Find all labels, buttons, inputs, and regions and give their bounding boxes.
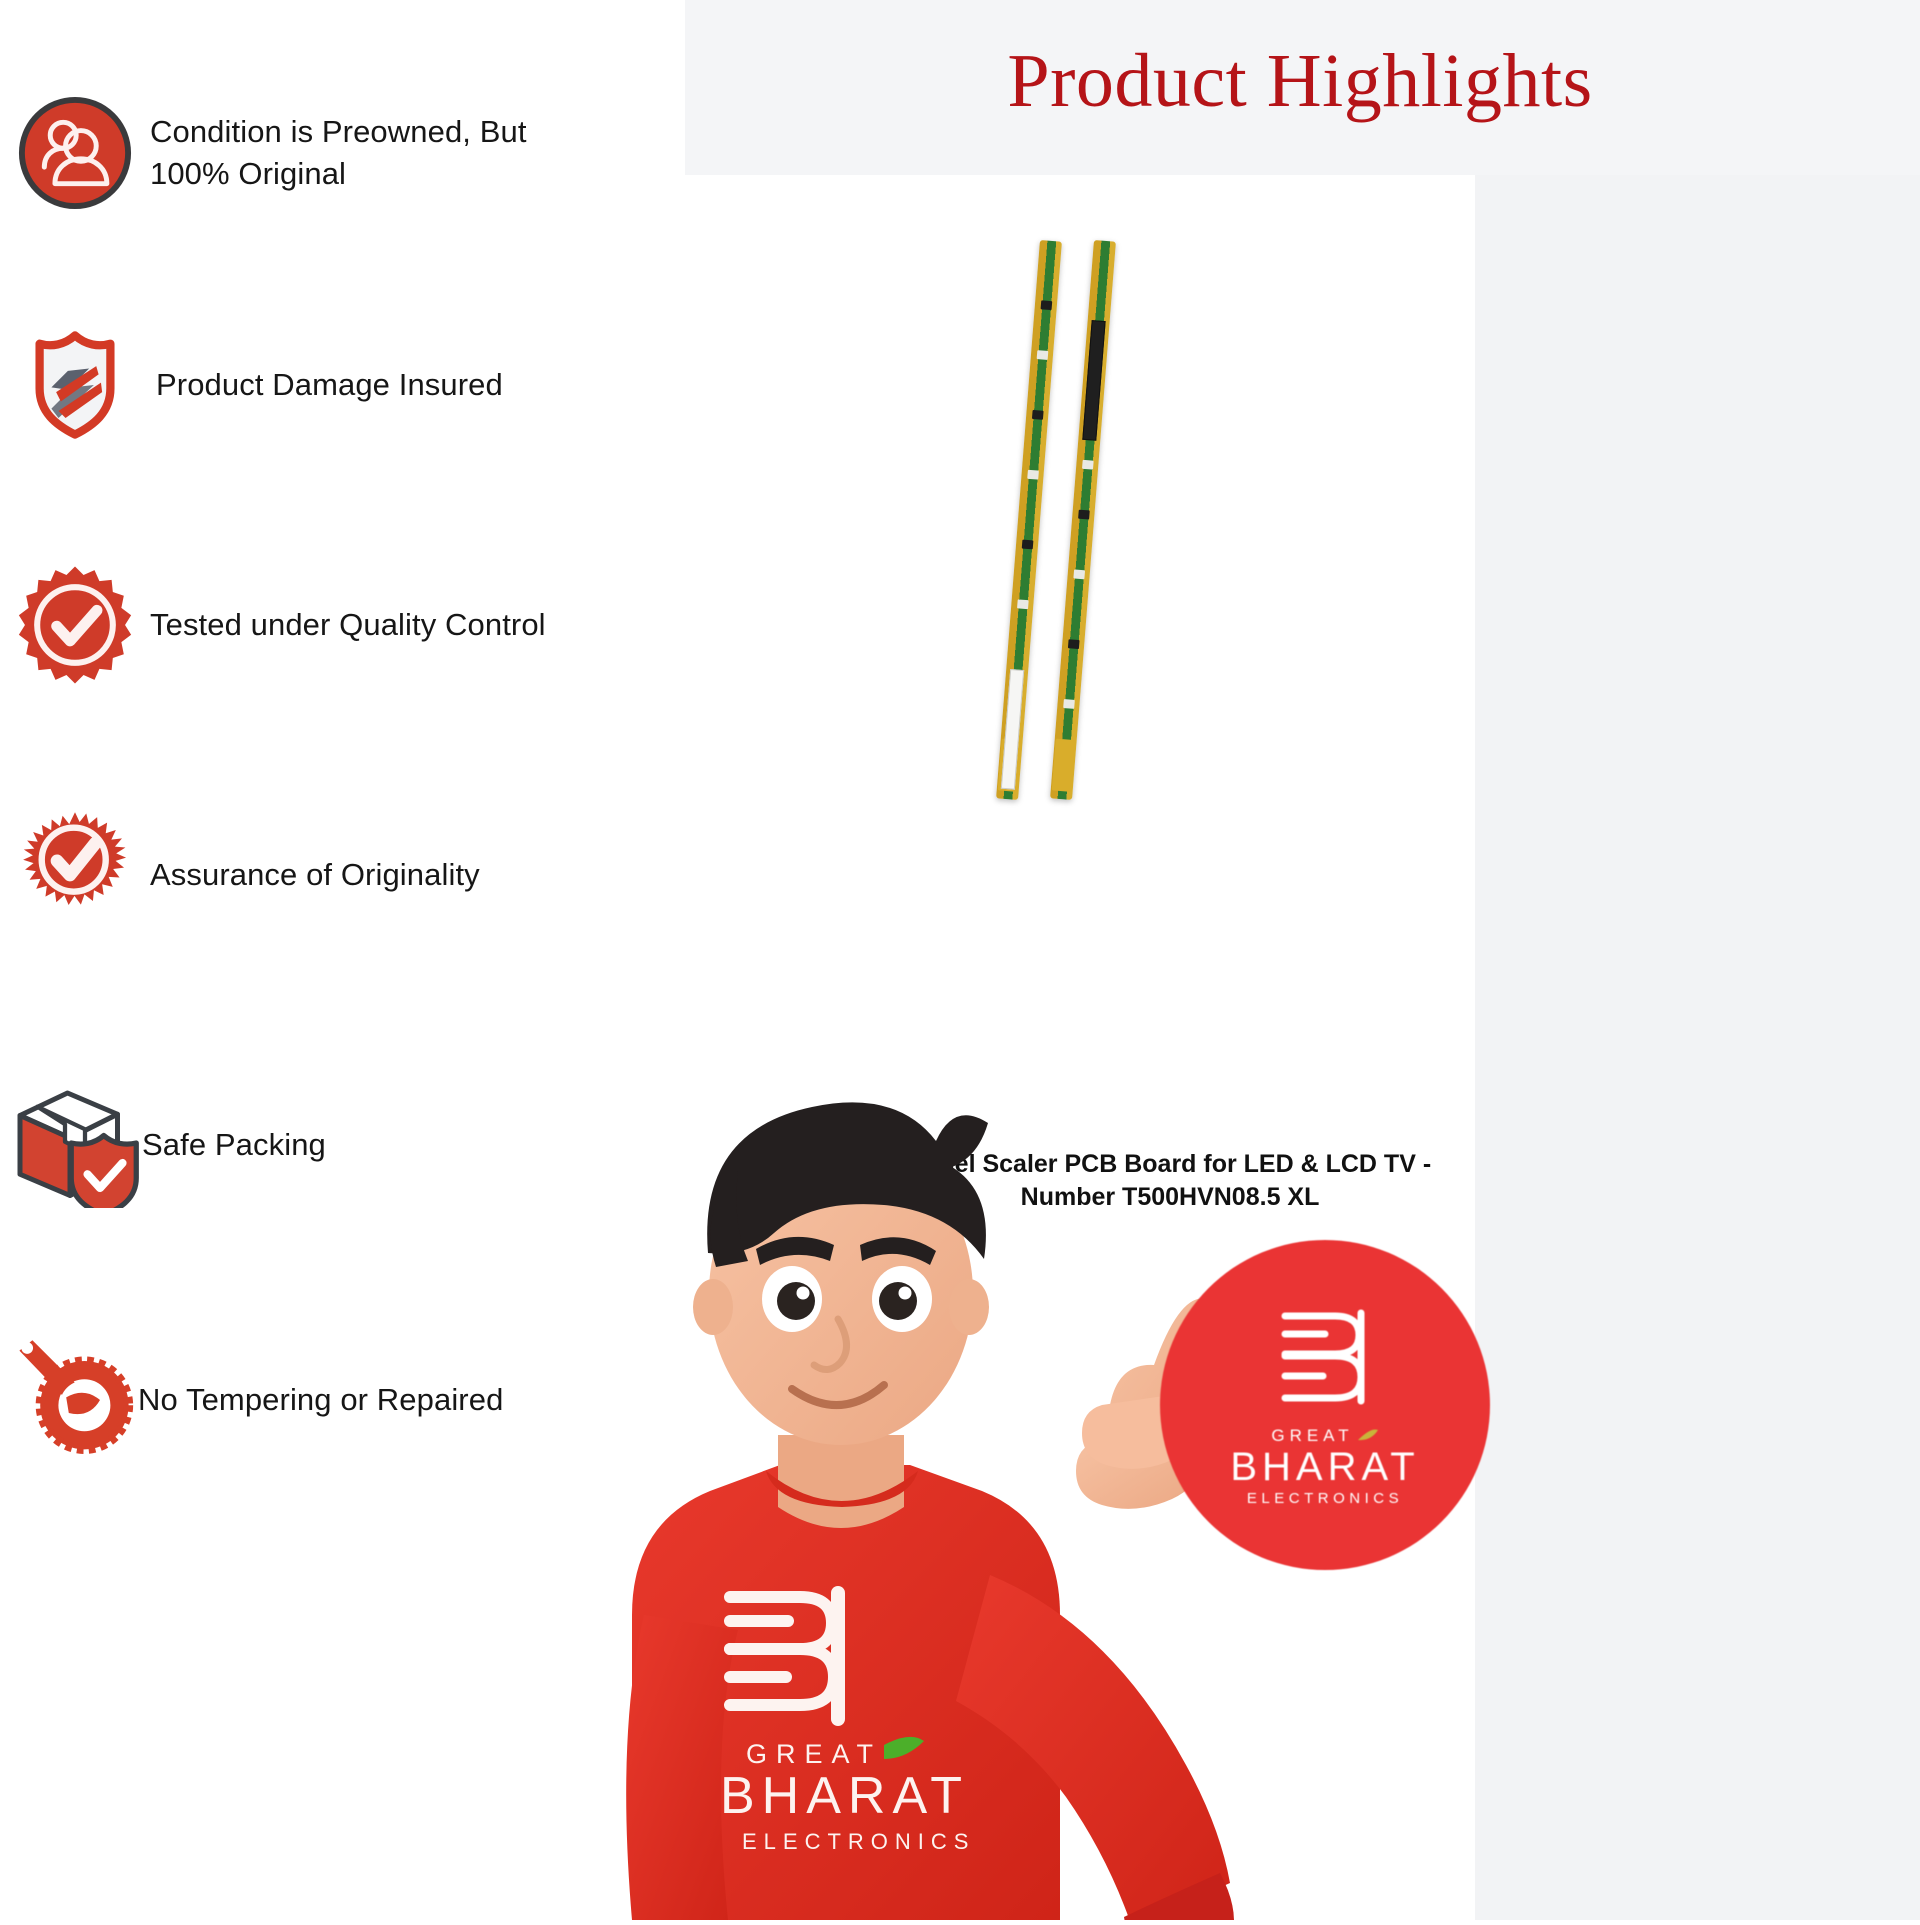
box-shield-icon (0, 1083, 160, 1208)
svg-text:BHARAT: BHARAT (720, 1767, 969, 1825)
feature-row-quality: Tested under Quality Control (0, 540, 686, 710)
b-monogram-icon (1269, 1304, 1381, 1416)
shield-icon (0, 326, 150, 444)
feature-label: Condition is Preowned, But 100% Original (150, 111, 527, 195)
pcb-board-right (1050, 240, 1116, 800)
feature-label: Tested under Quality Control (150, 604, 546, 646)
badge-check-icon (0, 564, 150, 686)
leaf-icon (1357, 1429, 1379, 1442)
mascot-character: GREAT BHARAT ELECTRONICS (520, 915, 1260, 1920)
brand-logo-badge: GREAT BHARAT ELECTRONICS (1160, 1240, 1490, 1570)
svg-text:GREAT: GREAT (746, 1739, 882, 1769)
logo-brand-name: BHARAT (1230, 1446, 1419, 1488)
feature-label: No Tempering or Repaired (138, 1379, 503, 1421)
feature-label: Product Damage Insured (156, 364, 503, 406)
svg-text:ELECTRONICS: ELECTRONICS (742, 1829, 975, 1854)
feature-row-insured: Product Damage Insured (0, 300, 686, 470)
page-title: Product Highlights (700, 38, 1900, 125)
users-icon (0, 94, 150, 212)
pcb-board-left (996, 240, 1062, 800)
feature-label: Assurance of Originality (150, 854, 480, 896)
feature-row-condition: Condition is Preowned, But 100% Original (0, 58, 686, 248)
product-image (940, 240, 1220, 820)
gear-wrench-icon (0, 1335, 148, 1465)
starburst-check-icon (0, 811, 150, 939)
logo-sub-text: ELECTRONICS (1247, 1490, 1403, 1507)
feature-label: Safe Packing (142, 1124, 326, 1166)
logo-great-text: GREAT (1271, 1426, 1378, 1446)
